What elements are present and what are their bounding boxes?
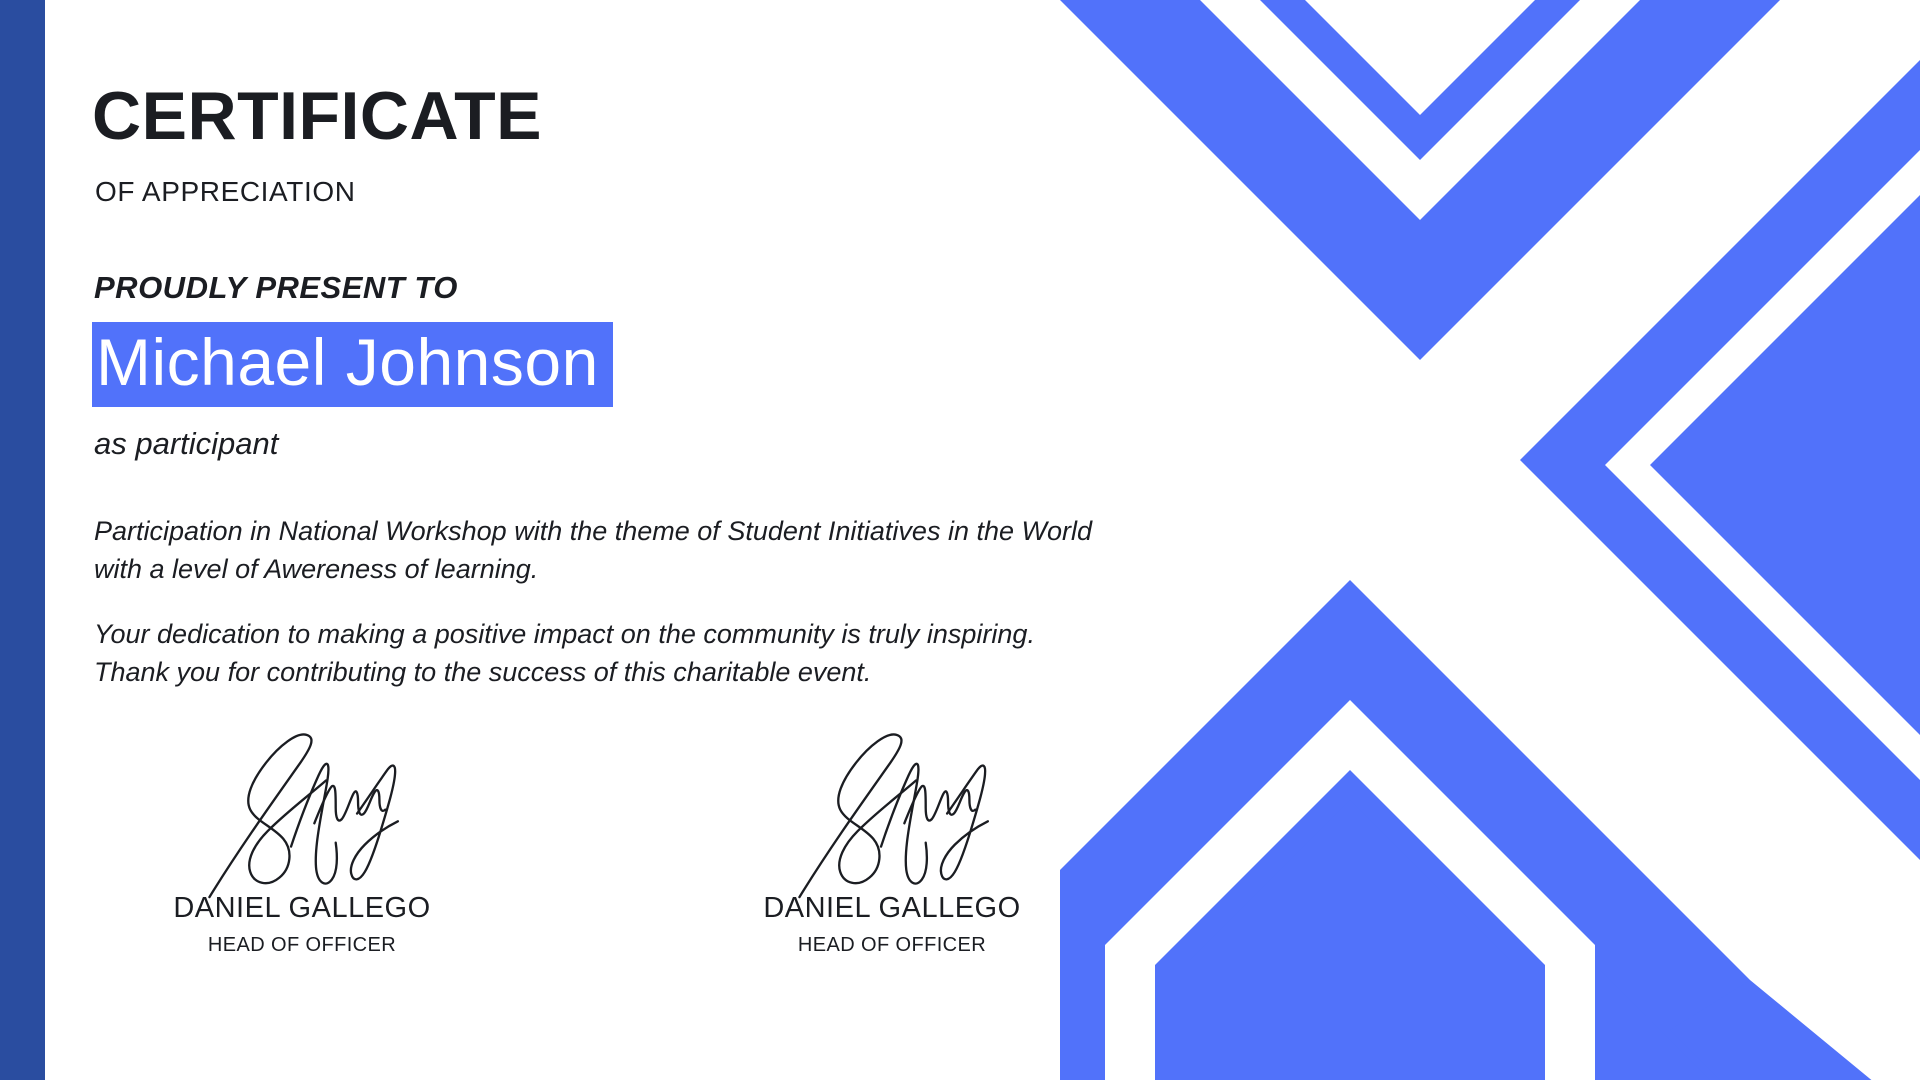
handwritten-signature-icon — [190, 730, 413, 900]
present-to-label: PROUDLY PRESENT TO — [94, 272, 458, 303]
certificate-body: Participation in National Workshop with … — [94, 512, 1094, 717]
signatory-name: DANIEL GALLEGO — [722, 894, 1062, 923]
signatory-title: HEAD OF OFFICER — [132, 935, 472, 955]
left-edge-stripe — [0, 0, 45, 1080]
signature-block: DANIEL GALLEGO HEAD OF OFFICER — [722, 730, 1062, 955]
body-paragraph: Your dedication to making a positive imp… — [94, 615, 1094, 692]
certificate-subtitle: OF APPRECIATION — [95, 178, 356, 206]
signatory-title: HEAD OF OFFICER — [722, 935, 1062, 955]
page-title: CERTIFICATE — [92, 82, 542, 150]
signature-area: DANIEL GALLEGO HEAD OF OFFICER DANIEL GA… — [92, 730, 1102, 1020]
handwritten-signature-icon — [780, 730, 1003, 900]
signatory-name: DANIEL GALLEGO — [132, 894, 472, 923]
recipient-role: as participant — [94, 428, 278, 459]
signature-block: DANIEL GALLEGO HEAD OF OFFICER — [132, 730, 472, 955]
chevron-decoration — [1060, 0, 1920, 1080]
body-paragraph: Participation in National Workshop with … — [94, 512, 1094, 589]
certificate-document: CERTIFICATE OF APPRECIATION PROUDLY PRES… — [0, 0, 1920, 1080]
certificate-content: CERTIFICATE OF APPRECIATION PROUDLY PRES… — [92, 0, 1102, 1080]
recipient-name: Michael Johnson — [96, 328, 599, 397]
recipient-name-highlight: Michael Johnson — [92, 322, 613, 407]
